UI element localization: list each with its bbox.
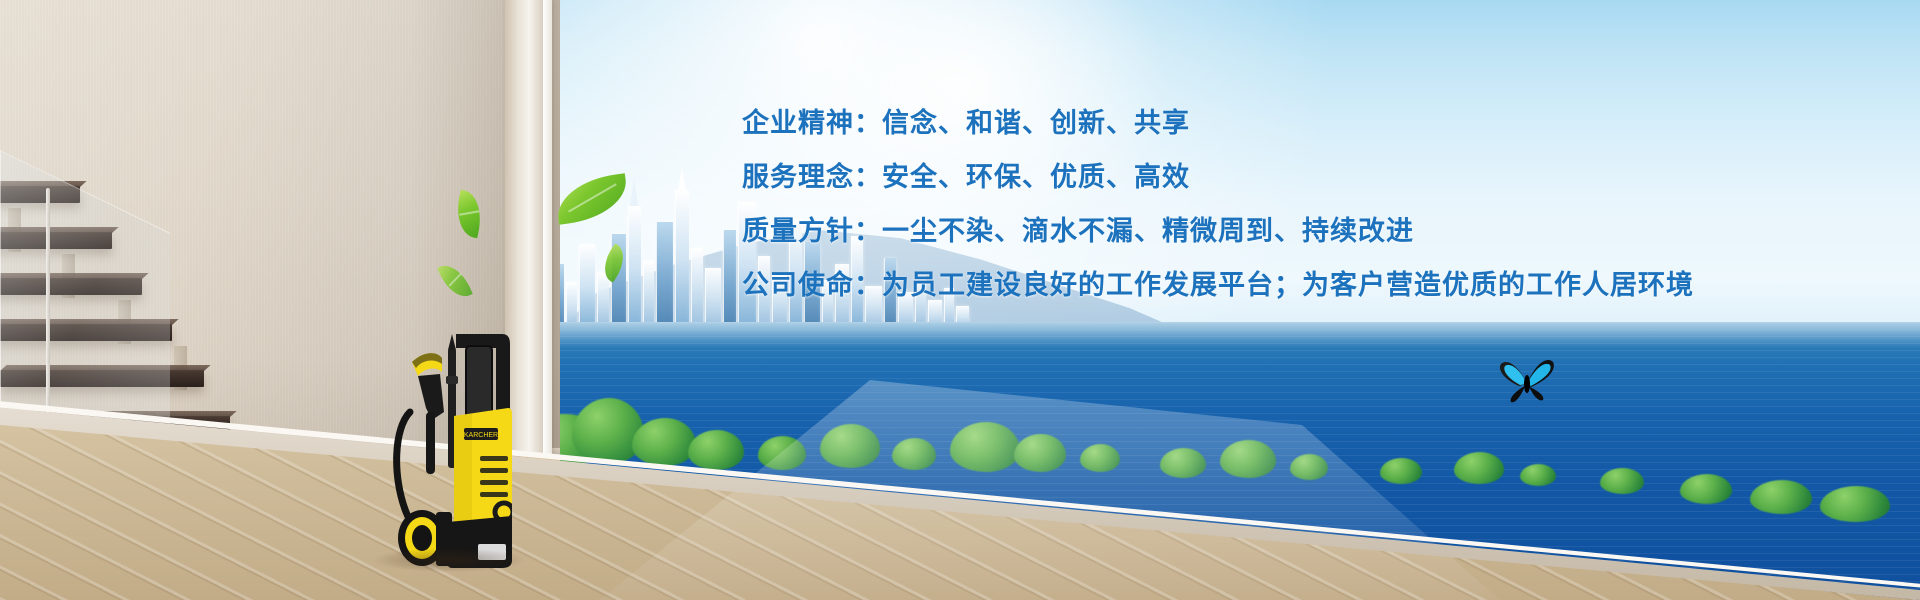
horizon-glow xyxy=(520,322,1920,348)
culture-text-block: 企业精神：信念、和谐、创新、共享 服务理念：安全、环保、优质、高效 质量方针：一… xyxy=(742,110,1694,299)
sea-view-mural xyxy=(520,0,1920,600)
culture-line-service: 服务理念：安全、环保、优质、高效 xyxy=(742,164,1694,191)
pressure-washer-graphic: KARCHER xyxy=(392,316,512,578)
treeline xyxy=(520,378,1920,508)
window-inner-edge xyxy=(543,0,552,455)
culture-line-spirit: 企业精神：信念、和谐、创新、共享 xyxy=(742,110,1694,137)
company-culture-banner: KARCHER 企业精神：信念、和谐、创新、共享 服务理念：安全、环保、优质、高… xyxy=(0,0,1920,600)
washer-shadow xyxy=(374,548,524,572)
culture-line-quality: 质量方针：一尘不染、滴水不漏、精微周到、持续改进 xyxy=(742,218,1694,245)
svg-text:KARCHER: KARCHER xyxy=(464,432,498,439)
pressure-washer: KARCHER xyxy=(392,316,512,578)
floating-staircase xyxy=(0,150,250,480)
floor-reflection xyxy=(0,455,330,525)
blue-butterfly xyxy=(1495,350,1559,410)
culture-line-mission: 公司使命：为员工建设良好的工作发展平台；为客户营造优质的工作人居环境 xyxy=(742,272,1694,299)
